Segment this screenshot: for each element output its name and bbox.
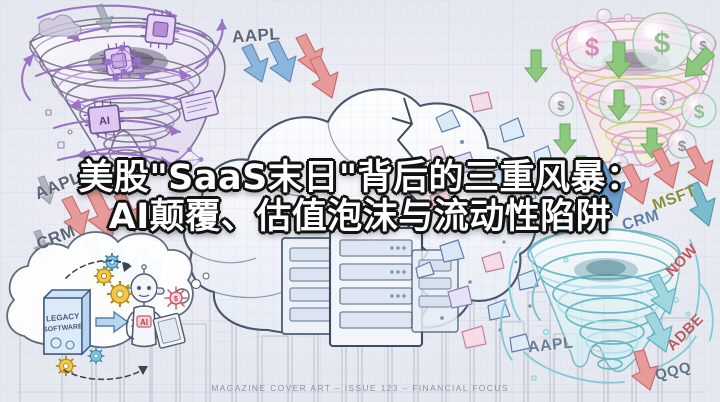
ticker-label-crm-left: CRM (34, 221, 79, 255)
ticker-label-now-right: NOW (663, 241, 702, 280)
ticker-label-aapl-left: AAPL (32, 168, 84, 205)
ticker-label-qqq-right: QQQ (653, 359, 693, 384)
cover-caption: MAGAZINE COVER ART – ISSUE 123 – FINANCI… (0, 383, 720, 393)
ticker-label-aapl-top: AAPL (231, 24, 281, 47)
ticker-label-aapl-bottom: AAPL (527, 335, 574, 358)
ticker-label-adbe-right: ADBE (664, 311, 707, 354)
ticker-label-layer: AAPL AAPL CRM MSFT CRM NOW ADBE QQQ AAPL (0, 0, 720, 402)
magazine-cover: AI (0, 0, 720, 402)
ticker-label-crm-right: CRM (620, 207, 662, 235)
